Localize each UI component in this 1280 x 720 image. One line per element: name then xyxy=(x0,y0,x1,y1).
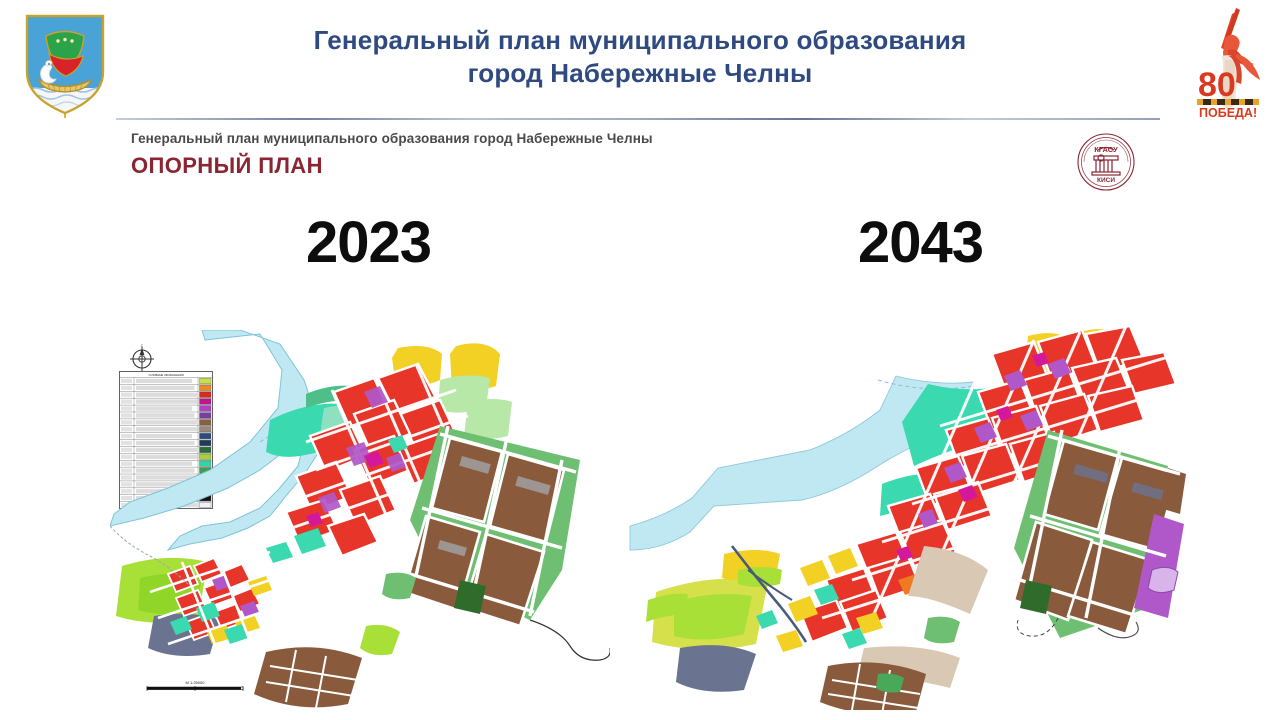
detached-parcel xyxy=(1148,567,1178,592)
page-title-line-2: город Набережные Челны xyxy=(180,57,1100,90)
plan-subtitle-small: Генеральный план муниципального образова… xyxy=(131,131,653,146)
kgasu-top-label: КГАСУ xyxy=(1094,145,1118,154)
victory-80-anniversary-logo-icon: 80 ПОБЕДА! xyxy=(1192,4,1266,122)
master-plan-map-2043[interactable] xyxy=(628,318,1188,710)
master-plan-map-2023[interactable] xyxy=(110,330,610,710)
kgasu-bottom-label: КИСИ xyxy=(1097,177,1115,184)
victory-logo-word: ПОБЕДА! xyxy=(1199,106,1257,120)
year-label-2043: 2043 xyxy=(858,214,983,272)
plan-subtitle-heading: ОПОРНЫЙ ПЛАН xyxy=(131,153,323,179)
page-title-line-1: Генеральный план муниципального образова… xyxy=(180,24,1100,57)
coat-of-arms-icon xyxy=(22,10,108,118)
page-title: Генеральный план муниципального образова… xyxy=(180,24,1100,91)
header-divider xyxy=(116,118,1160,120)
presentation-slide: Генеральный план муниципального образова… xyxy=(0,0,1280,720)
year-label-2023: 2023 xyxy=(306,214,431,272)
kgasu-seal-logo-icon: КГАСУ КИСИ xyxy=(1076,132,1136,192)
victory-logo-number: 80 xyxy=(1198,66,1236,104)
